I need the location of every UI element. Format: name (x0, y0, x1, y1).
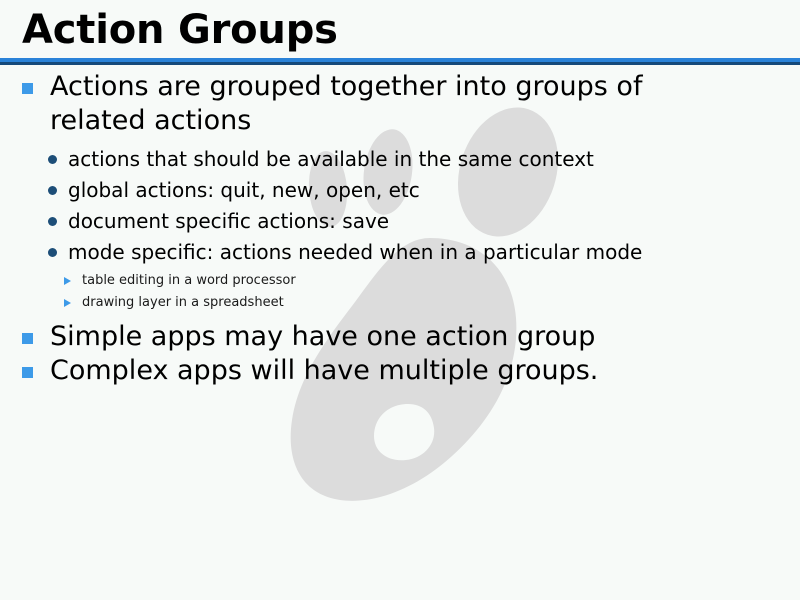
outline-item-level1: Actions are grouped together into groups… (0, 70, 800, 138)
outline-item-level2: document specific actions: save (0, 206, 800, 237)
square-bullet-icon (22, 83, 33, 94)
outline-item-level2: actions that should be available in the … (0, 144, 800, 175)
slide-title: Action Groups (22, 6, 338, 54)
outline-item-text: global actions: quit, new, open, etc (68, 178, 420, 202)
triangle-bullet-icon (64, 299, 71, 307)
outline-item-text: Simple apps may have one action group (50, 320, 710, 354)
title-divider (0, 58, 800, 65)
outline-item-text: table editing in a word processor (82, 273, 296, 288)
round-bullet-icon (48, 155, 57, 164)
round-bullet-icon (48, 186, 57, 195)
square-bullet-icon (22, 333, 33, 344)
presentation-slide: Action Groups Actions are grouped togeth… (0, 0, 800, 600)
triangle-bullet-icon (64, 277, 71, 285)
round-bullet-icon (48, 217, 57, 226)
outline-item-text: drawing layer in a spreadsheet (82, 295, 284, 310)
outline-item-level2: mode specific: actions needed when in a … (0, 237, 800, 268)
outline-item-text: Actions are grouped together into groups… (50, 70, 710, 138)
outline-item-level1: Complex apps will have multiple groups. (0, 354, 800, 388)
outline-item-level3: table editing in a word processor (0, 270, 800, 292)
outline-item-level3: drawing layer in a spreadsheet (0, 292, 800, 314)
divider-dark-bar (0, 62, 800, 65)
slide-body-outline: Actions are grouped together into groups… (0, 70, 800, 388)
square-bullet-icon (22, 367, 33, 378)
outline-item-text: mode specific: actions needed when in a … (68, 240, 642, 264)
outline-item-text: Complex apps will have multiple groups. (50, 354, 710, 388)
outline-item-text: actions that should be available in the … (68, 147, 594, 171)
round-bullet-icon (48, 248, 57, 257)
outline-item-text: document specific actions: save (68, 209, 389, 233)
outline-item-level2: global actions: quit, new, open, etc (0, 175, 800, 206)
outline-item-level1: Simple apps may have one action group (0, 320, 800, 354)
